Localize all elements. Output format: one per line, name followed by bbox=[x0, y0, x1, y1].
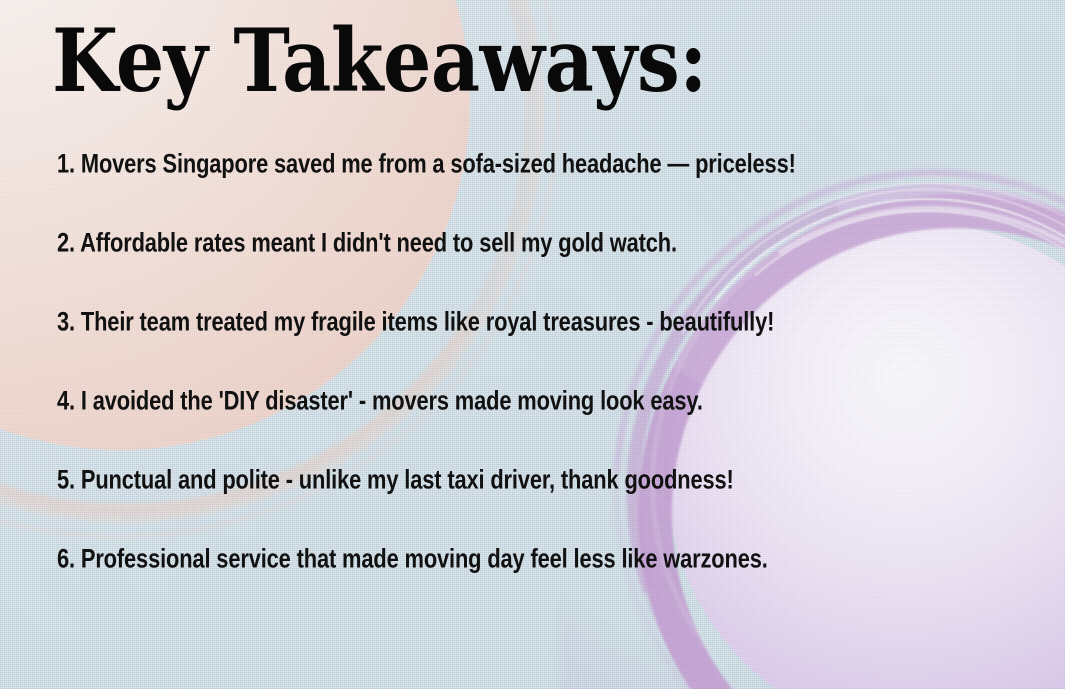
content-layer: Key Takeaways: 1. Movers Singapore saved… bbox=[0, 0, 1065, 689]
list-item: 6. Professional service that made moving… bbox=[57, 543, 950, 635]
list-item: 2. Affordable rates meant I didn't need … bbox=[57, 227, 950, 319]
list-item: 4. I avoided the 'DIY disaster' - movers… bbox=[57, 385, 950, 477]
page-title: Key Takeaways: bbox=[52, 18, 707, 105]
list-item: 5. Punctual and polite - unlike my last … bbox=[57, 464, 950, 556]
takeaways-list: 1. Movers Singapore saved me from a sofa… bbox=[57, 148, 1017, 622]
list-item: 1. Movers Singapore saved me from a sofa… bbox=[57, 148, 950, 240]
list-item: 3. Their team treated my fragile items l… bbox=[57, 306, 950, 398]
key-takeaways-graphic: Key Takeaways: 1. Movers Singapore saved… bbox=[0, 0, 1065, 689]
